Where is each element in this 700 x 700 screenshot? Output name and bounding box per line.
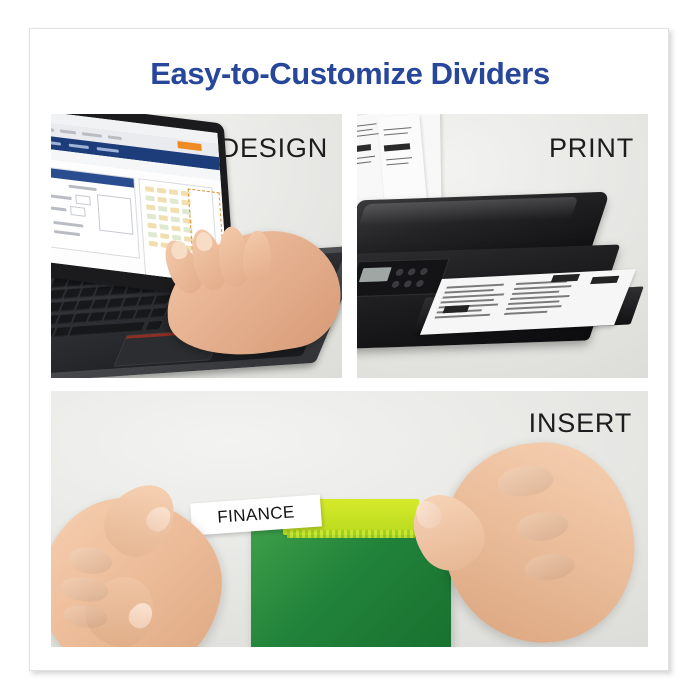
app-accent-chip — [177, 141, 201, 151]
printer-button[interactable] — [403, 280, 412, 287]
printer-feeder-paper-secondary — [377, 114, 426, 201]
panel-label-insert: INSERT — [529, 408, 632, 439]
right-hand — [434, 434, 644, 647]
printer-lcd-display — [359, 267, 392, 282]
printed-divider-sheet — [420, 269, 636, 335]
printer-button[interactable] — [395, 269, 404, 276]
printer-button[interactable] — [407, 268, 416, 275]
settings-card-header — [51, 167, 134, 188]
product-image-card: Easy-to-Customize Dividers — [29, 28, 669, 671]
printer-button[interactable] — [415, 280, 424, 287]
page-title: Easy-to-Customize Dividers — [30, 56, 670, 92]
printer-button[interactable] — [419, 268, 428, 275]
label-strip-text: FINANCE — [217, 502, 296, 527]
panel-design: DESIGN — [51, 114, 342, 378]
printer-button[interactable] — [391, 281, 400, 288]
panel-print: PRINT — [357, 114, 648, 378]
divider-tab-pocket-seam — [287, 530, 415, 538]
panel-insert: FINANCE — [51, 391, 648, 647]
lid-highlight — [359, 197, 579, 226]
keyboard-row — [51, 278, 54, 287]
screenshot-root: Easy-to-Customize Dividers — [0, 0, 700, 700]
panel-label-design: DESIGN — [220, 133, 328, 164]
panel-label-print: PRINT — [549, 133, 634, 164]
app-settings-card — [51, 166, 140, 259]
